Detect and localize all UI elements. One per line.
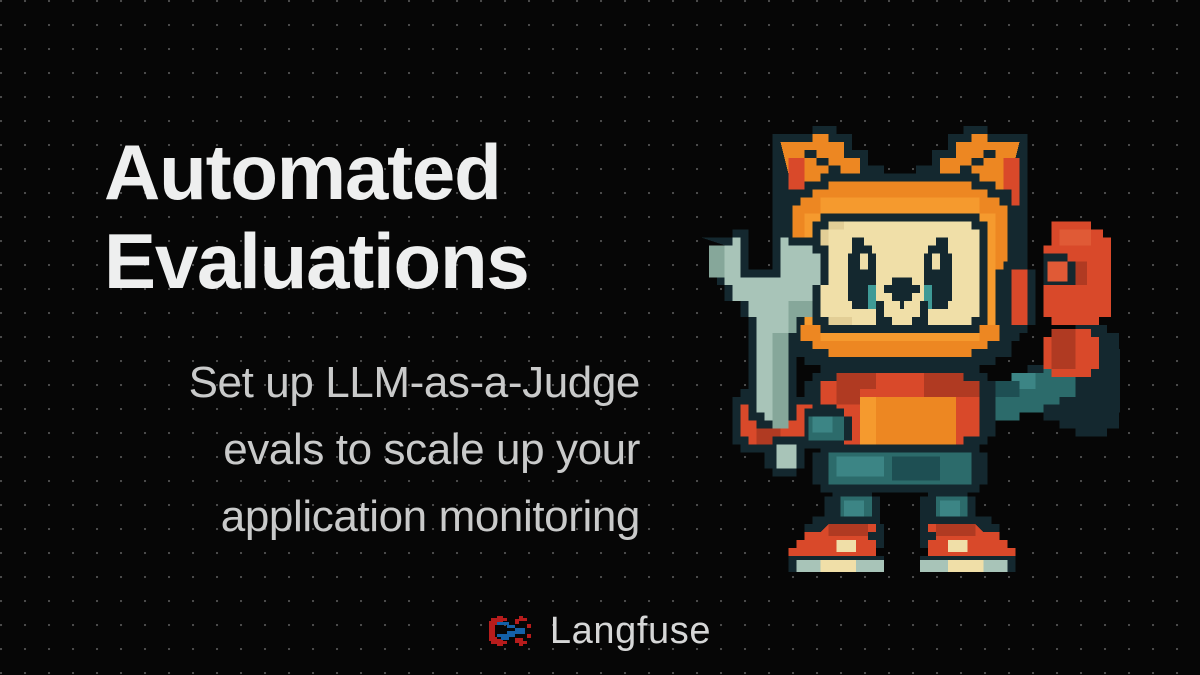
mascot-belt [812,445,987,493]
brand-name: Langfuse [550,612,711,650]
mascot-legs-and-boots [788,488,1015,572]
pixel-fox-robot-mascot-icon [684,102,1120,580]
mascot-illustration [684,102,1120,580]
promo-banner: Automated Evaluations Set up LLM-as-a-Ju… [0,0,1200,675]
text-column: Automated Evaluations Set up LLM-as-a-Ju… [0,0,660,675]
langfuse-logo-icon [489,612,533,650]
brand-lockup: Langfuse [0,600,1200,662]
page-subtitle: Set up LLM-as-a-Judge evals to scale up … [60,350,640,551]
page-title: Automated Evaluations [104,128,664,306]
